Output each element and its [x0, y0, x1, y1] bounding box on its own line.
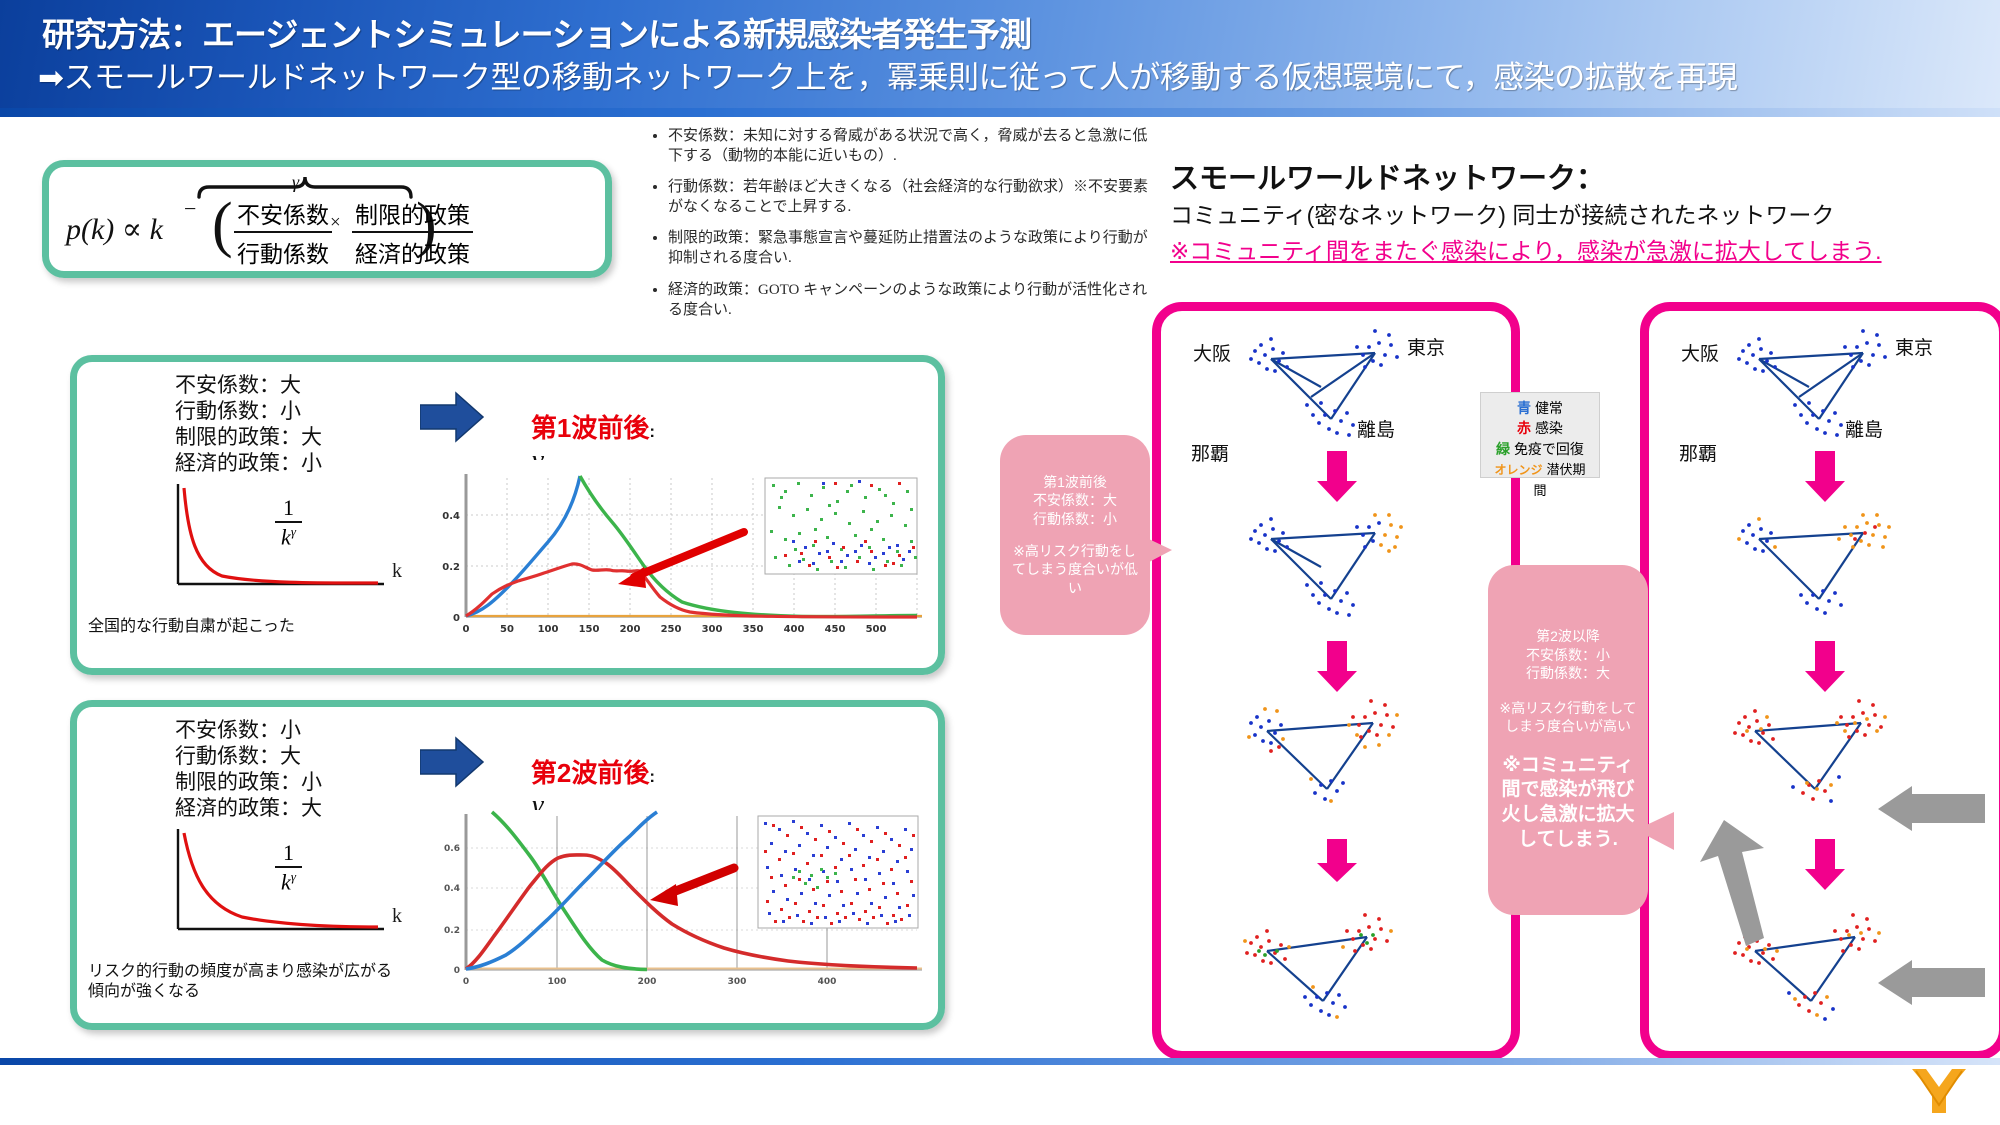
wave1-coef-2: 行動係数：小 — [175, 399, 301, 425]
svg-text:0: 0 — [453, 613, 460, 624]
wave2-panel: 不安係数：小 行動係数：大 制限的政策：小 経済的政策：大 第2波前後: γ は… — [70, 700, 945, 1030]
list-item: 不安係数：未知に対する脅威がある状況で高く，脅威が去ると急激に低下する（動物的本… — [668, 126, 1160, 166]
wave1-coef-1: 不安係数：大 — [175, 373, 301, 399]
pink-down-arrow-icon — [1804, 641, 1846, 693]
legend-key-orange: オレンジ — [1495, 463, 1543, 477]
svg-text:100: 100 — [538, 624, 559, 635]
wave2-chart-svg: 0 100 200 300 400 0 0.2 0.4 0.6 — [422, 810, 927, 1010]
legend-key-red: 赤 — [1517, 420, 1531, 436]
formula-fraction-2: 制限的政策 経済的政策 — [352, 196, 473, 269]
svg-text:250: 250 — [661, 624, 682, 635]
callout-wave1: 第1波前後 不安係数：大 行動係数：小 ※高リスク行動をしてしまう度合いが低い — [1000, 435, 1150, 635]
legend-key-green: 緑 — [1496, 441, 1510, 457]
page-subtitle: ➡スモールワールドネットワーク型の移動ネットワーク上を，冪乗則に従って人が移動す… — [38, 52, 1737, 97]
wave1-coef-4: 経済的政策：小 — [175, 451, 322, 477]
legend-item: 緑 免疫で回復 — [1489, 439, 1591, 459]
gray-arrow-up-icon — [1698, 818, 1768, 948]
legend-label-recovered: 免疫で回復 — [1514, 441, 1584, 457]
gray-arrow-icon — [1876, 960, 1986, 1006]
pink-down-arrow-icon — [1804, 839, 1846, 891]
callout-right-line-3: 行動係数：大 — [1526, 664, 1610, 682]
legend-item: オレンジ 潜伏期間 — [1489, 459, 1591, 501]
wave1-coef-3: 制限的政策：大 — [175, 425, 322, 451]
definition-bullets: 不安係数：未知に対する脅威がある状況で高く，脅威が去ると急激に低下する（動物的本… — [650, 126, 1160, 331]
status-color-legend: 青 健常 赤 感染 緑 免疫で回復 オレンジ 潜伏期間 — [1480, 392, 1600, 478]
svg-text:0.4: 0.4 — [444, 884, 460, 894]
city-label-tokyo: 東京 — [1407, 333, 1445, 360]
wave1-mini-den: kγ — [275, 523, 302, 550]
formula-numerator-2: 制限的政策 — [352, 196, 473, 233]
slide-header: 研究方法：エージェントシミュレーションによる新規感染者発生予測 ➡スモールワール… — [0, 0, 2000, 108]
formula-fraction-1: 不安係数 行動係数 — [234, 196, 332, 269]
callout-left-line-2: 不安係数：大 — [1033, 491, 1117, 509]
svg-text:0: 0 — [454, 966, 460, 976]
callout-right-note: ※高リスク行動をしてしまう度合いが高い — [1498, 699, 1638, 736]
svg-text:300: 300 — [702, 624, 723, 635]
city-label-ritou: 離島 — [1845, 415, 1883, 442]
svg-text:500: 500 — [866, 624, 887, 635]
formula-minus: − — [184, 196, 196, 222]
callout-left-note: ※高リスク行動をしてしまう度合いが低い — [1010, 542, 1140, 597]
city-label-ritou: 離島 — [1357, 415, 1395, 442]
callout-right-line-1: 第2波以降 — [1536, 627, 1600, 645]
city-label-naha: 那覇 — [1679, 439, 1717, 466]
legend-item: 青 健常 — [1489, 398, 1591, 418]
formula-paren-open: ( — [212, 190, 233, 261]
legend-item: 赤 感染 — [1489, 418, 1591, 438]
city-label-osaka: 大阪 — [1681, 339, 1719, 366]
header-underline-bar — [0, 108, 2000, 117]
callout-right-emphasis: ※コミュニティ間で感染が飛び火し急激に拡大してしまう. — [1498, 754, 1638, 853]
city-label-tokyo: 東京 — [1895, 333, 1933, 360]
svg-text:200: 200 — [638, 977, 657, 987]
wave1-mini-exp: γ — [291, 524, 296, 539]
callout-right-line-2: 不安係数：小 — [1526, 646, 1610, 664]
svg-text:150: 150 — [579, 624, 600, 635]
wave2-coef-2: 行動係数：大 — [175, 744, 301, 770]
wave2-mini-exp: γ — [291, 869, 296, 884]
wave2-mini-den: kγ — [275, 868, 302, 895]
svg-text:350: 350 — [743, 624, 764, 635]
pink-down-arrow-icon — [1316, 451, 1358, 503]
formula-gamma: γ — [292, 172, 299, 193]
wave2-mini-den-k: k — [281, 869, 291, 894]
svg-text:400: 400 — [818, 977, 837, 987]
wave2-mini-num: 1 — [275, 840, 302, 868]
wave2-mini-formula: 1 kγ — [275, 840, 302, 895]
network-panel-right: 大阪 東京 離島 那覇 — [1640, 302, 2000, 1060]
callout-left-line-1: 第1波前後 — [1043, 473, 1107, 491]
pink-down-arrow-icon — [1316, 839, 1358, 883]
formula-lhs: p(k) ∝ k — [66, 212, 163, 247]
list-item: 制限的政策：緊急事態宣言や蔓延防止措置法のような政策により行動が抑制される度合い… — [668, 228, 1160, 268]
pink-down-arrow-icon — [1804, 451, 1846, 503]
wave1-axis-label: k — [392, 560, 402, 583]
formula-times: × — [330, 212, 341, 234]
wave2-coef-4: 経済的政策：大 — [175, 796, 322, 822]
wave2-axis-label: k — [392, 905, 402, 928]
wave2-coef-1: 不安係数：小 — [175, 718, 301, 744]
city-label-naha: 那覇 — [1191, 439, 1229, 466]
legend-label-healthy: 健常 — [1535, 400, 1563, 416]
callout-left-tail — [1134, 520, 1174, 580]
wave2-coef-3: 制限的政策：小 — [175, 770, 322, 796]
pink-down-arrow-icon — [1316, 641, 1358, 693]
list-item: 行動係数：若年齢ほど大きくなる（社会経済的な行動欲求）※不安要素がなくなることで… — [668, 177, 1160, 217]
footer-bar — [0, 1058, 2000, 1065]
logo-icon — [1906, 1065, 1972, 1117]
smallworld-warning: ※コミュニティ間をまたぐ感染により，感染が急激に拡大してしまう. — [1170, 232, 1882, 266]
formula-numerator-1: 不安係数 — [234, 196, 332, 233]
page-title: 研究方法：エージェントシミュレーションによる新規感染者発生予測 — [42, 8, 1031, 56]
svg-text:50: 50 — [500, 624, 514, 635]
wave1-chart-svg: 0 50 100 150 200 250 300 350 400 450 500… — [422, 460, 927, 660]
svg-text:0.4: 0.4 — [442, 511, 460, 522]
smallworld-subtitle: コミュニティ(密なネットワーク) 同士が接続されたネットワーク — [1170, 196, 1834, 230]
formula-panel: γ p(k) ∝ k − ( ) 不安係数 行動係数 × 制限的政策 経済的政策 — [42, 160, 612, 278]
wave2-chart: 0 100 200 300 400 0 0.2 0.4 0.6 — [422, 810, 927, 1010]
legend-label-infected: 感染 — [1535, 420, 1563, 436]
wave1-mini-formula: 1 kγ — [275, 495, 302, 550]
formula-denominator-2: 経済的政策 — [352, 233, 473, 269]
blue-arrow-icon — [420, 391, 484, 443]
callout-wave2: 第2波以降 不安係数：小 行動係数：大 ※高リスク行動をしてしまう度合いが高い … — [1488, 565, 1648, 915]
svg-text:0.2: 0.2 — [442, 562, 460, 573]
svg-text:0.6: 0.6 — [444, 844, 460, 854]
svg-text:200: 200 — [620, 624, 641, 635]
formula-denominator-1: 行動係数 — [234, 233, 332, 269]
svg-text:0.2: 0.2 — [444, 926, 460, 936]
wave1-mini-den-k: k — [281, 524, 291, 549]
svg-text:450: 450 — [825, 624, 846, 635]
svg-text:100: 100 — [548, 977, 567, 987]
legend-key-blue: 青 — [1517, 400, 1531, 416]
blue-arrow-icon — [420, 736, 484, 788]
wave1-mini-num: 1 — [275, 495, 302, 523]
callout-right-tail — [1636, 800, 1676, 860]
city-label-osaka: 大阪 — [1193, 339, 1231, 366]
callout-left-line-3: 行動係数：小 — [1033, 510, 1117, 528]
svg-text:0: 0 — [463, 624, 470, 635]
list-item: 経済的政策：GOTO キャンペーンのような政策により行動が活性化される度合い. — [668, 280, 1160, 320]
wave1-chart: 0 50 100 150 200 250 300 350 400 450 500… — [422, 460, 927, 660]
svg-text:300: 300 — [728, 977, 747, 987]
smallworld-title: スモールワールドネットワーク： — [1170, 155, 1605, 197]
svg-text:400: 400 — [784, 624, 805, 635]
network-panel-left: 大阪 東京 離島 那覇 — [1152, 302, 1520, 1060]
wave1-panel: 不安係数：大 行動係数：小 制限的政策：大 経済的政策：小 第1波前後: γ は… — [70, 355, 945, 675]
wave1-caption: 全国的な行動自粛が起こった — [88, 617, 295, 637]
wave2-caption: リスク的行動の頻度が高まり感染が広がる傾向が強くなる — [88, 962, 398, 1002]
svg-text:0: 0 — [463, 977, 469, 987]
gray-arrow-icon — [1876, 786, 1986, 832]
